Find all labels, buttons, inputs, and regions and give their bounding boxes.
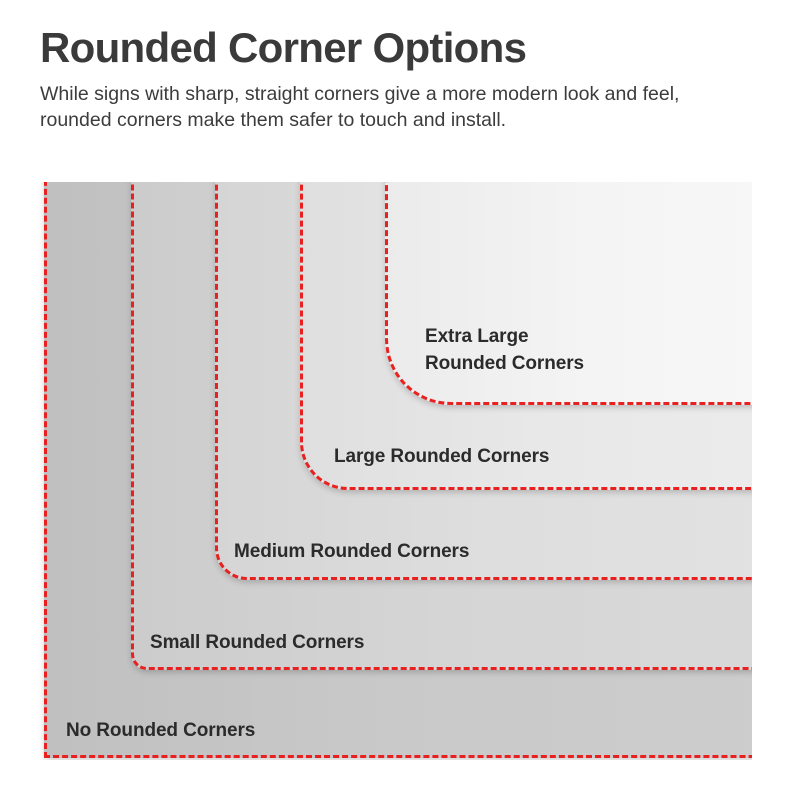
header: Rounded Corner Options While signs with … xyxy=(40,26,760,134)
layer-label-large-rounded-corners: Large Rounded Corners xyxy=(334,444,549,471)
page-title: Rounded Corner Options xyxy=(40,26,760,71)
rounded-corner-diagram: No Rounded CornersSmall Rounded CornersM… xyxy=(0,182,752,760)
infographic-page: Rounded Corner Options While signs with … xyxy=(0,0,800,800)
layer-label-no-rounded-corners: No Rounded Corners xyxy=(66,718,255,745)
layer-label-extra-large-rounded-corners: Extra Large Rounded Corners xyxy=(425,324,584,378)
page-subtitle: While signs with sharp, straight corners… xyxy=(40,81,740,135)
layer-label-medium-rounded-corners: Medium Rounded Corners xyxy=(234,539,469,566)
layer-label-small-rounded-corners: Small Rounded Corners xyxy=(150,630,364,657)
